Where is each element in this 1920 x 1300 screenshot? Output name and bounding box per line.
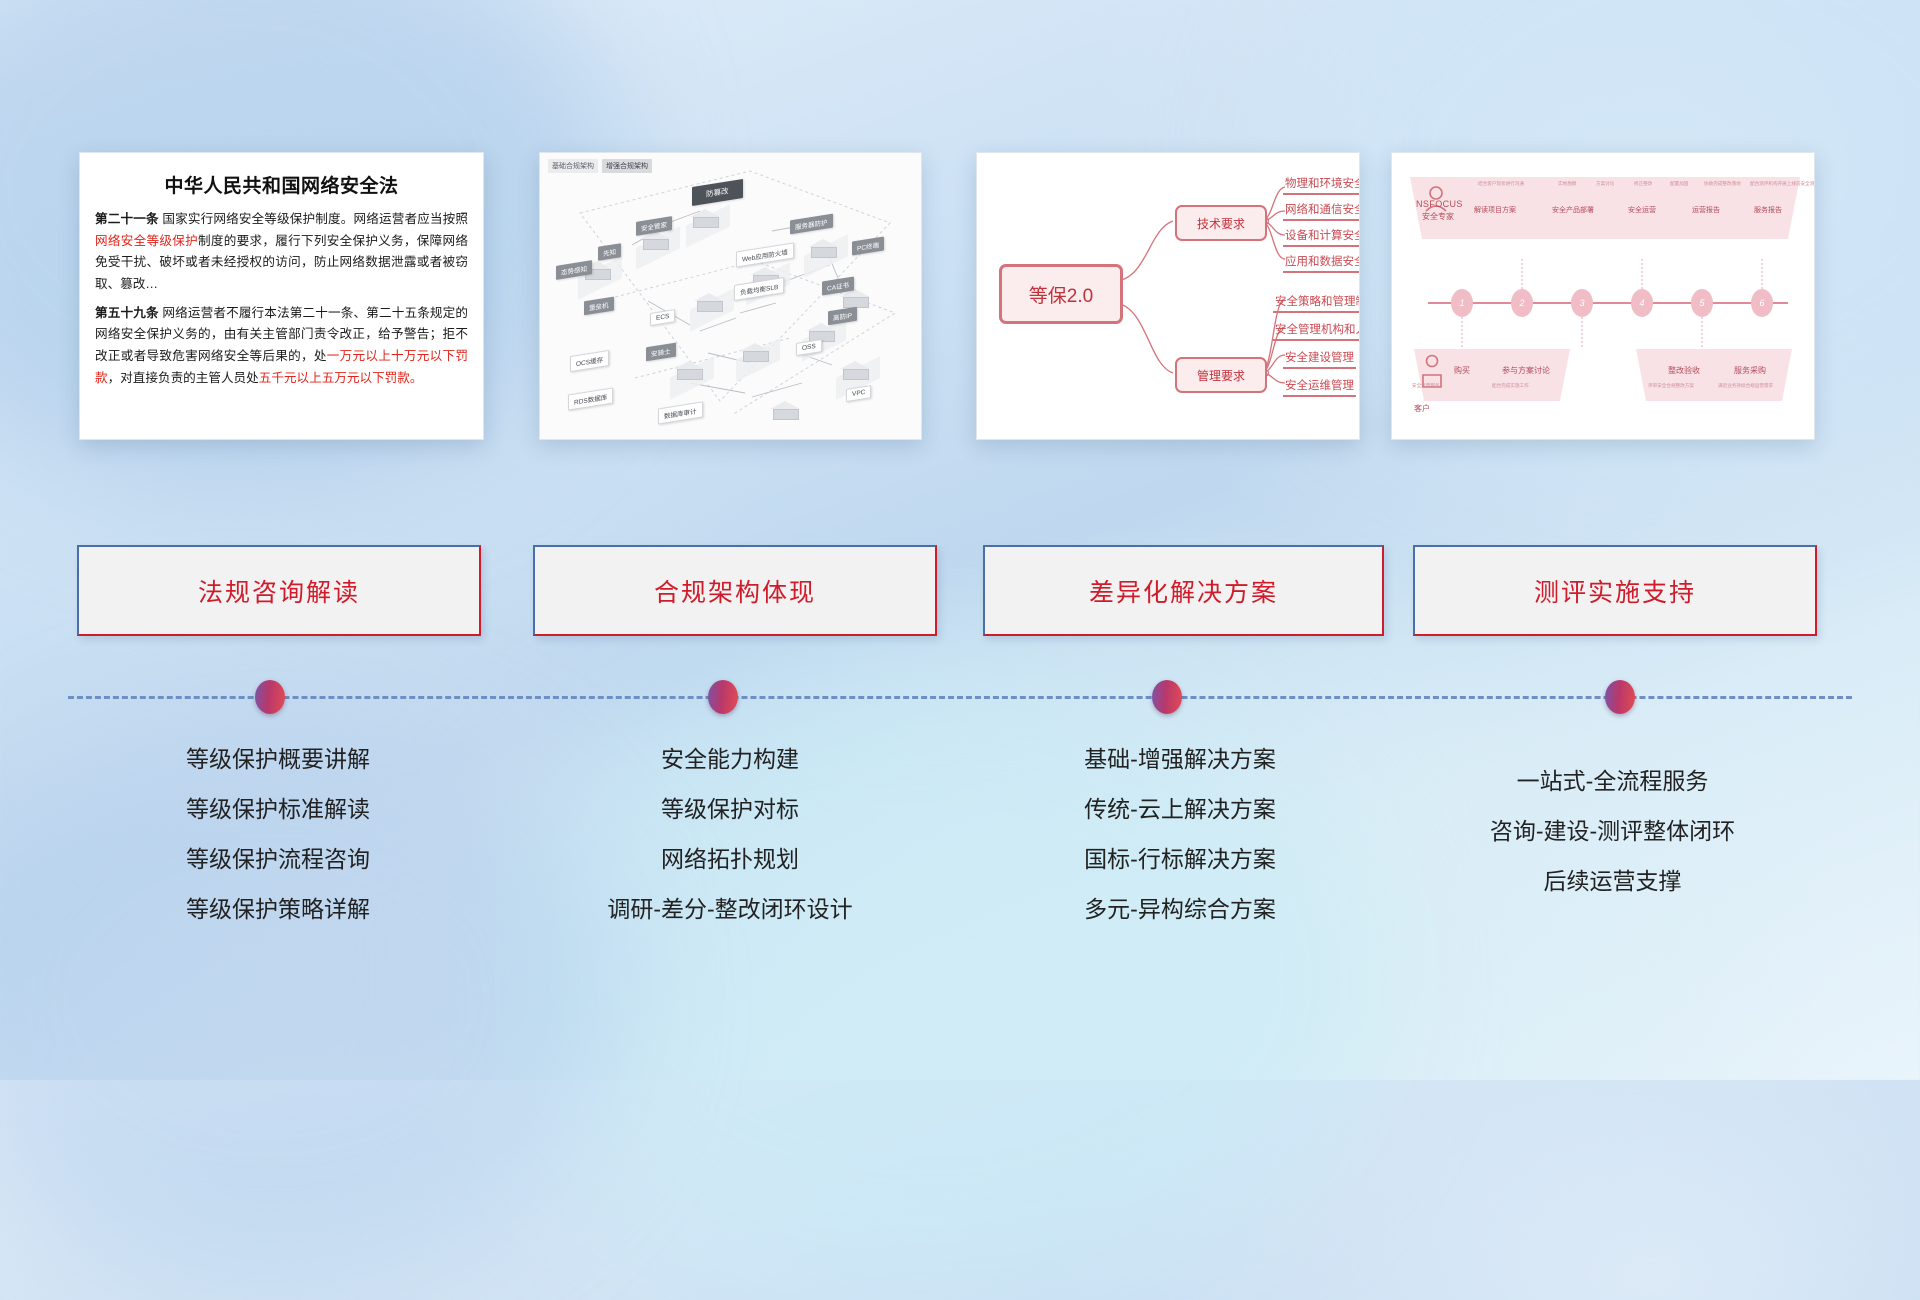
nsfocus-bottom-left-tiny: 配合完成实施工作 <box>1492 383 1529 389</box>
law-body: 中华人民共和国网络安全法 第二十一条 国家实行网络安全等级保护制度。网络运营者应… <box>80 153 483 439</box>
category-box-label: 合规架构体现 <box>654 573 816 609</box>
timeline-dot[interactable] <box>255 680 285 714</box>
nsfocus-bottom-right-tiny: 满足业务持续合规运营需求 <box>1718 383 1773 389</box>
nsfocus-brand: NSFOCUS <box>1416 199 1463 209</box>
topology-diagram: 基础合规架构 增强合规架构 <box>540 153 921 439</box>
category-box-label: 测评实施支持 <box>1534 573 1696 609</box>
category-box-label: 法规咨询解读 <box>198 573 360 609</box>
category-box-compliance-architecture[interactable]: 合规架构体现 <box>533 545 937 636</box>
mindmap-branch-management: 管理要求 <box>1175 357 1267 393</box>
mindmap-leaf: 安全策略和管理制度 <box>1273 293 1360 313</box>
list-item: 多元-异构综合方案 <box>980 898 1380 921</box>
timeline-dashed-line <box>68 696 1852 699</box>
list-item: 网络拓扑规划 <box>530 848 930 871</box>
nsfocus-bottom-right-label: 服务采购 <box>1734 365 1766 376</box>
nsfocus-bottom-right-label: 整改验收 <box>1668 365 1700 376</box>
node-icon <box>770 401 800 421</box>
nsfocus-step-marker: 2 <box>1511 289 1533 317</box>
mindmap-leaf: 设备和计算安全 <box>1283 227 1360 247</box>
list-item: 等级保护概要讲解 <box>78 748 478 771</box>
timeline-dot[interactable] <box>708 680 738 714</box>
mindmap-leaf: 网络和通信安全 <box>1283 201 1360 221</box>
law-article-21-highlight: 网络安全等级保护 <box>95 234 198 248</box>
mindmap-leaf: 应用和数据安全 <box>1283 253 1360 273</box>
nsfocus-bottom-left-tiny: 安全运营服务 <box>1412 383 1440 389</box>
nsfocus-banner-step: 修正整改 <box>1634 181 1652 187</box>
mindmap-branch-technical: 技术要求 <box>1175 205 1267 241</box>
law-article-21-text-a: 国家实行网络安全等级保护制度。网络运营者应当按照 <box>159 212 468 226</box>
detail-column-regulation-consulting: 等级保护概要讲解 等级保护标准解读 等级保护流程咨询 等级保护策略详解 <box>78 748 478 948</box>
nsfocus-timeline-diagram: NSFOCUS 安全专家 结合客户现状进行沟通 实地勘察 方案讨论 修正整改 配… <box>1392 153 1814 439</box>
list-item: 咨询-建设-测评整体闭环 <box>1410 820 1815 843</box>
node-icon <box>674 361 704 381</box>
list-item: 后续运营支撑 <box>1410 870 1815 893</box>
nsfocus-banner-step: 实地勘察 <box>1558 181 1576 187</box>
mindmap-leaf: 安全管理机构和人员 <box>1273 321 1360 341</box>
nsfocus-customer-label: 客户 <box>1414 403 1430 414</box>
category-box-label: 差异化解决方案 <box>1089 573 1278 609</box>
timeline-dot[interactable] <box>1152 680 1182 714</box>
mindmap-diagram: 等保2.0 技术要求 管理要求 物理和环境安全 网络和通信安全 设备和计算安全 … <box>977 153 1359 439</box>
nsfocus-banner-step: 结合客户现状进行沟通 <box>1478 181 1524 187</box>
list-item: 等级保护流程咨询 <box>78 848 478 871</box>
nsfocus-stage-label: 解读项目方案 <box>1474 205 1516 215</box>
list-item: 等级保护标准解读 <box>78 798 478 821</box>
list-item: 国标-行标解决方案 <box>980 848 1380 871</box>
detail-column-assessment-support: 一站式-全流程服务 咨询-建设-测评整体闭环 后续运营支撑 <box>1410 770 1815 920</box>
nsfocus-banner-step: 配置加固 <box>1670 181 1688 187</box>
category-box-differentiated-solution[interactable]: 差异化解决方案 <box>983 545 1384 636</box>
law-article-59: 第五十九条 网络运营者不履行本法第二十一条、第二十五条规定的网络安全保护义务的，… <box>95 303 468 390</box>
mindmap-leaf: 物理和环境安全 <box>1283 175 1360 195</box>
nsfocus-step-marker: 4 <box>1631 289 1653 317</box>
list-item: 等级保护对标 <box>530 798 930 821</box>
detail-column-differentiated-solution: 基础-增强解决方案 传统-云上解决方案 国标-行标解决方案 多元-异构综合方案 <box>980 748 1380 948</box>
list-item: 基础-增强解决方案 <box>980 748 1380 771</box>
list-item: 一站式-全流程服务 <box>1410 770 1815 793</box>
nsfocus-stage-label: 服务报告 <box>1754 205 1782 215</box>
nsfocus-banner-step: 配合测评机构开展上线前安全测评 <box>1750 181 1815 187</box>
category-box-row: 法规咨询解读 合规架构体现 差异化解决方案 测评实施支持 <box>0 545 1920 640</box>
card-assessment-support[interactable]: NSFOCUS 安全专家 结合客户现状进行沟通 实地勘察 方案讨论 修正整改 配… <box>1391 152 1815 440</box>
law-article-59-text-b: ，对直接负责的主管人员处 <box>108 371 259 385</box>
nsfocus-banner-step: 方案讨论 <box>1596 181 1614 187</box>
detail-list-row: 等级保护概要讲解 等级保护标准解读 等级保护流程咨询 等级保护策略详解 安全能力… <box>0 730 1920 960</box>
card-mindmap-dengbao[interactable]: 等保2.0 技术要求 管理要求 物理和环境安全 网络和通信安全 设备和计算安全 … <box>976 152 1360 440</box>
nsfocus-bottom-left-label: 参与方案讨论 <box>1502 365 1550 376</box>
node-icon <box>840 361 870 381</box>
detail-column-compliance-architecture: 安全能力构建 等级保护对标 网络拓扑规划 调研-差分-整改闭环设计 <box>530 748 930 948</box>
nsfocus-step-marker: 3 <box>1571 289 1593 317</box>
law-article-21-label: 第二十一条 <box>95 212 159 226</box>
nsfocus-bottom-left-label: 购买 <box>1454 365 1470 376</box>
node-icon <box>690 209 720 229</box>
nsfocus-step-marker: 5 <box>1691 289 1713 317</box>
law-title: 中华人民共和国网络安全法 <box>95 171 468 198</box>
list-item: 传统-云上解决方案 <box>980 798 1380 821</box>
node-icon <box>808 239 838 259</box>
nsfocus-step-marker: 1 <box>1451 289 1473 317</box>
nsfocus-brand-sub: 安全专家 <box>1422 211 1454 222</box>
nsfocus-banner-step: 协助完成整改落地 <box>1704 181 1741 187</box>
list-item: 调研-差分-整改闭环设计 <box>530 898 930 921</box>
mindmap-leaf: 安全建设管理 <box>1283 349 1356 369</box>
list-item: 安全能力构建 <box>530 748 930 771</box>
nsfocus-stage-label: 运营报告 <box>1692 205 1720 215</box>
nsfocus-stage-label: 安全产品部署 <box>1552 205 1594 215</box>
law-article-59-highlight-2: 五千元以上五万元以下罚款。 <box>259 371 423 385</box>
nsfocus-bottom-right-tiny: 评审安全合规整改方案 <box>1648 383 1694 389</box>
mindmap-root-node: 等保2.0 <box>999 264 1123 324</box>
node-icon <box>740 343 770 363</box>
image-card-row: 中华人民共和国网络安全法 第二十一条 国家实行网络安全等级保护制度。网络运营者应… <box>0 0 1920 320</box>
list-item: 等级保护策略详解 <box>78 898 478 921</box>
category-box-assessment-support[interactable]: 测评实施支持 <box>1413 545 1817 636</box>
card-law-document[interactable]: 中华人民共和国网络安全法 第二十一条 国家实行网络安全等级保护制度。网络运营者应… <box>79 152 484 440</box>
timeline-dot[interactable] <box>1605 680 1635 714</box>
nsfocus-step-marker: 6 <box>1751 289 1773 317</box>
law-article-59-label: 第五十九条 <box>95 306 159 320</box>
law-article-21: 第二十一条 国家实行网络安全等级保护制度。网络运营者应当按照网络安全等级保护制度… <box>95 209 468 296</box>
category-box-regulation-consulting[interactable]: 法规咨询解读 <box>77 545 481 636</box>
mindmap-leaf: 安全运维管理 <box>1283 377 1356 397</box>
card-compliance-architecture[interactable]: 基础合规架构 增强合规架构 <box>539 152 922 440</box>
node-icon <box>694 293 724 313</box>
nsfocus-stage-label: 安全运营 <box>1628 205 1656 215</box>
